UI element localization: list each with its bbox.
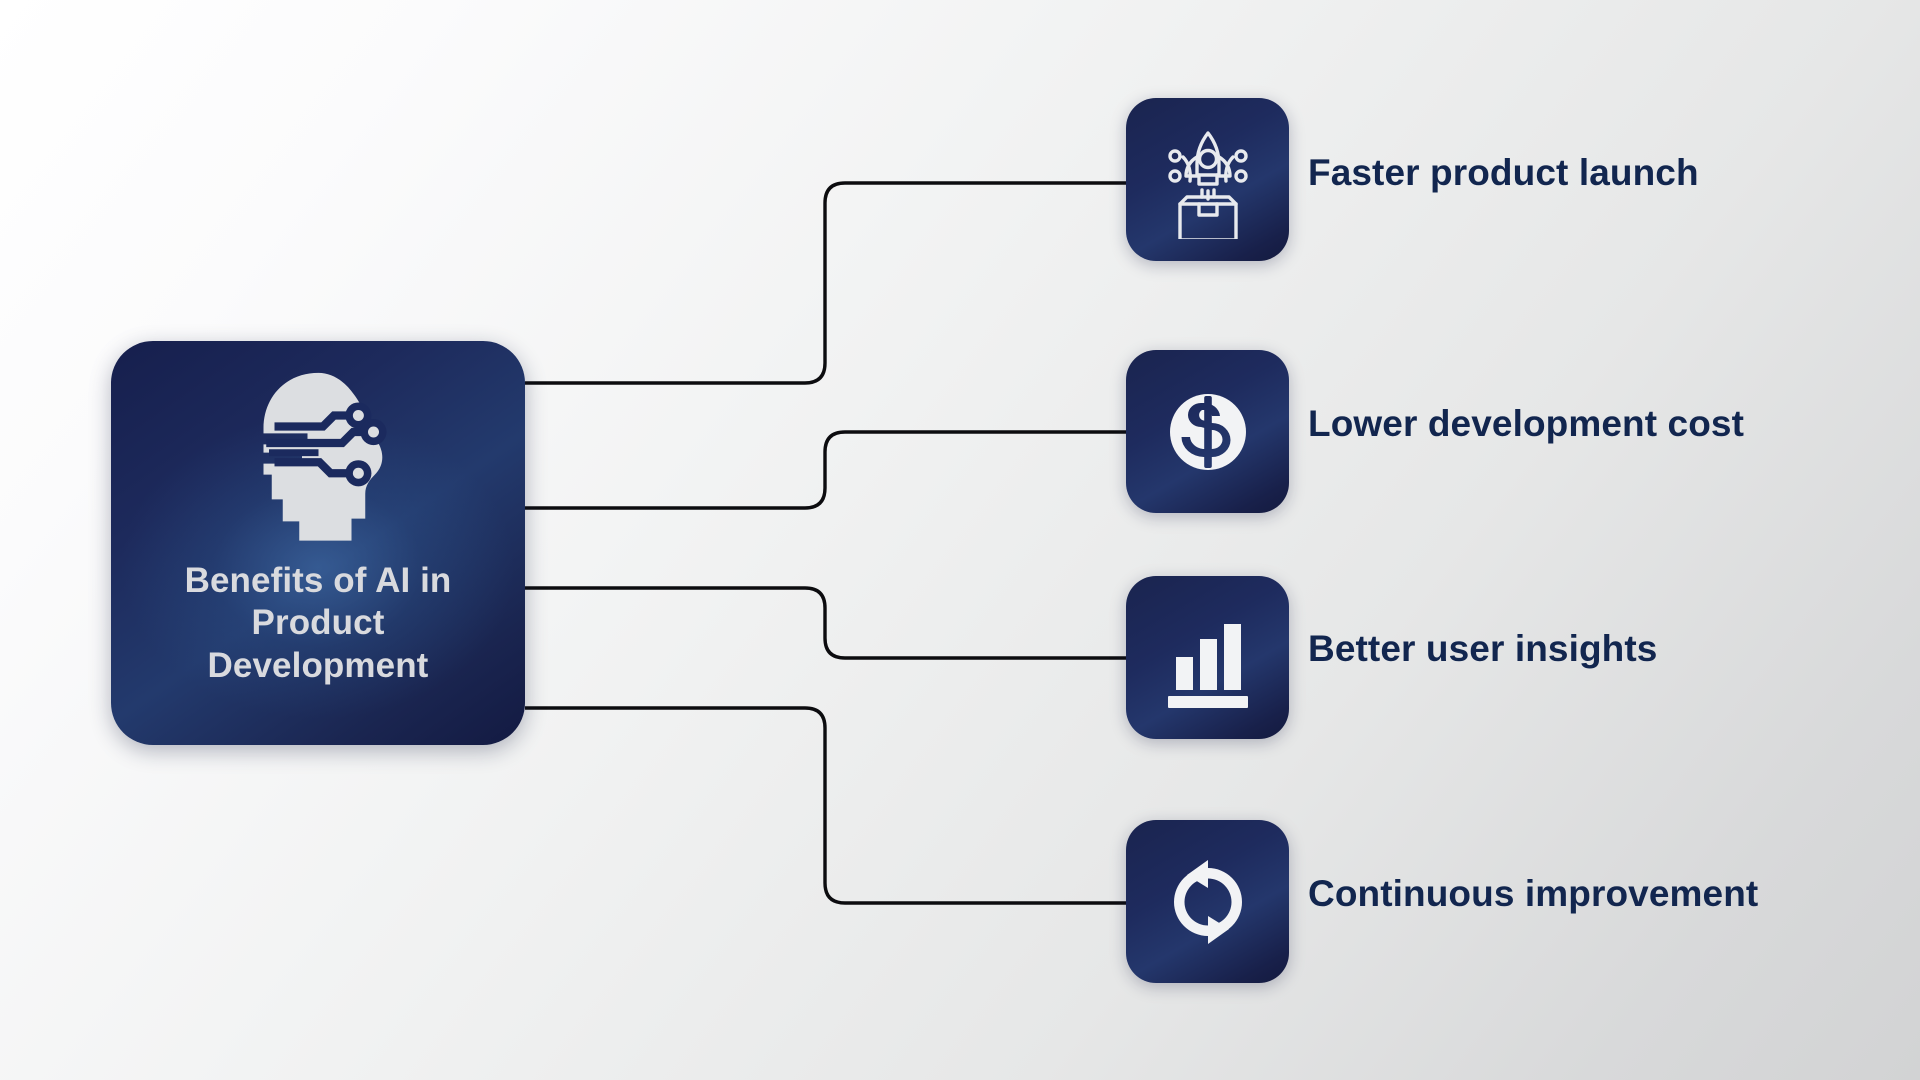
central-node[interactable]: Benefits of AI in Product Development (111, 341, 525, 745)
diagram-canvas: Benefits of AI in Product Development (0, 0, 1920, 1080)
connector-line-4 (525, 708, 1126, 903)
connector-line-3 (492, 573, 1126, 658)
rocket-launch-box-icon (1149, 121, 1267, 239)
dollar-circle-icon (1154, 378, 1262, 486)
bar-chart-icon (1156, 606, 1260, 710)
branch-icon-tile-faster-product-launch[interactable] (1126, 98, 1289, 261)
branch-label-faster-product-launch: Faster product launch (1308, 152, 1699, 194)
branch-label-lower-development-cost: Lower development cost (1308, 403, 1744, 445)
central-node-title: Benefits of AI in Product Development (141, 560, 496, 687)
branch-icon-tile-lower-development-cost[interactable] (1126, 350, 1289, 513)
branch-icon-tile-continuous-improvement[interactable] (1126, 820, 1289, 983)
central-title-line-2: Product (252, 603, 385, 642)
connector-line-1 (525, 183, 1126, 383)
connector-line-2 (525, 432, 1126, 508)
central-title-line-3: Development (208, 646, 429, 685)
ai-head-circuit-icon (236, 367, 401, 552)
branch-label-continuous-improvement: Continuous improvement (1308, 873, 1758, 915)
refresh-sync-icon (1154, 848, 1262, 956)
branch-icon-tile-better-user-insights[interactable] (1126, 576, 1289, 739)
branch-label-better-user-insights: Better user insights (1308, 628, 1657, 670)
central-title-line-1: Benefits of AI in (185, 561, 452, 600)
